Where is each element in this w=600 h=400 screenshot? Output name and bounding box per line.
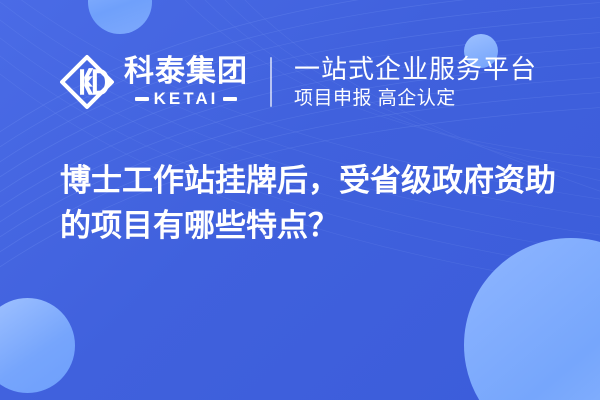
- tagline-block: 一站式企业服务平台 项目申报 高企认定: [294, 54, 537, 111]
- brand-wordmark: 科泰集团 KETAI: [124, 56, 248, 108]
- brand-rule-right: [223, 97, 237, 101]
- promo-banner: 科泰集团 KETAI 一站式企业服务平台 项目申报 高企认定 博士工作站挂牌后，…: [0, 0, 600, 400]
- brand-name-en-row: KETAI: [124, 90, 248, 108]
- brand-lockup[interactable]: 科泰集团 KETAI: [58, 53, 248, 111]
- brand-name-en: KETAI: [154, 90, 219, 108]
- tagline-sub: 项目申报 高企认定: [294, 87, 537, 111]
- ketai-diamond-kd-logo-icon: [58, 53, 116, 111]
- banner-header: 科泰集团 KETAI 一站式企业服务平台 项目申报 高企认定: [0, 40, 600, 124]
- article-title: 博士工作站挂牌后，受省级政府资助的项目有哪些特点？: [60, 158, 560, 248]
- brand-rule-left: [135, 97, 149, 101]
- brand-name-cn: 科泰集团: [124, 56, 248, 88]
- header-divider: [270, 57, 272, 107]
- tagline-main: 一站式企业服务平台: [294, 54, 537, 84]
